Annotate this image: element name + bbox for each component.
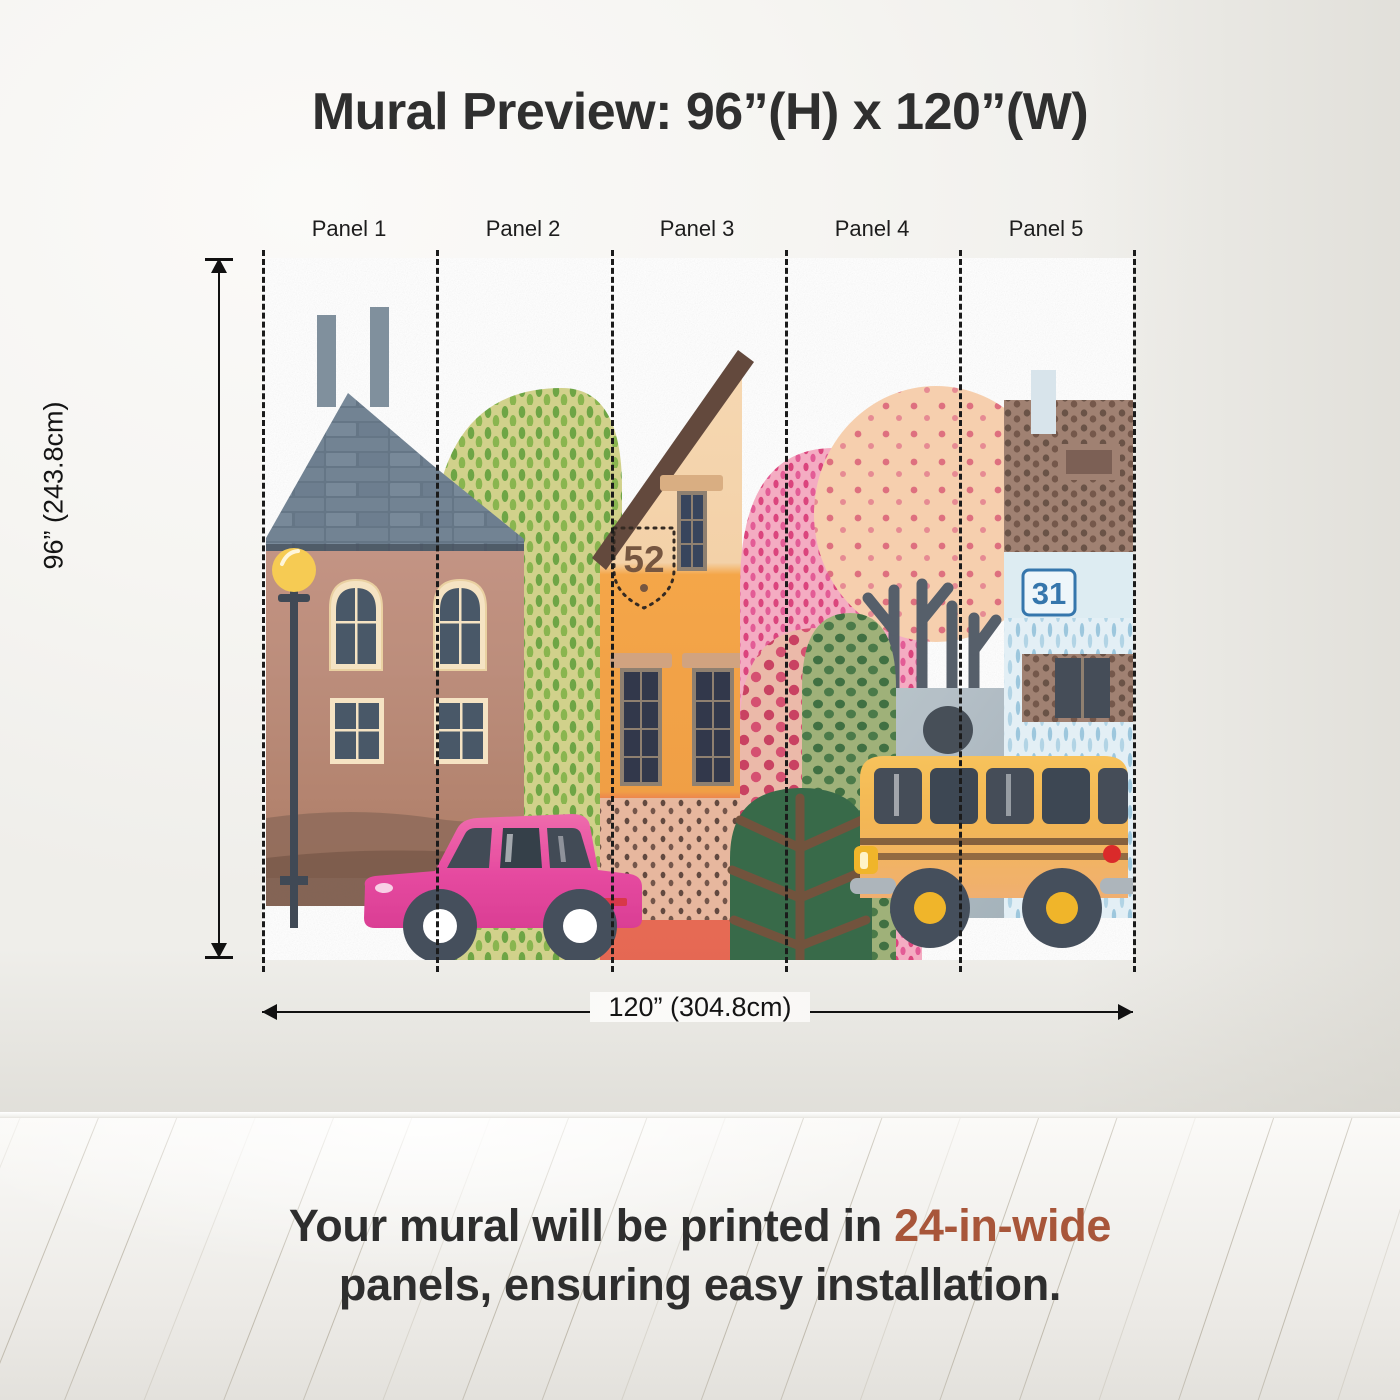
panel-divider-2 <box>611 250 614 972</box>
panel-label-2: Panel 2 <box>436 216 610 242</box>
caption-line-2: panels, ensuring easy installation. <box>0 1255 1400 1314</box>
caption-block: Your mural will be printed in 24-in-wide… <box>0 1196 1400 1315</box>
panel-divider-0 <box>262 250 265 972</box>
height-arrow-up <box>211 258 227 273</box>
panel-label-5: Panel 5 <box>959 216 1133 242</box>
panel-divider-5 <box>1133 250 1136 972</box>
panel-label-row: Panel 1 Panel 2 Panel 3 Panel 4 Panel 5 <box>262 216 1133 250</box>
panel-divider-3 <box>785 250 788 972</box>
panel-label-4: Panel 4 <box>785 216 959 242</box>
width-dimension-label-text: 120” (304.8cm) <box>590 992 809 1022</box>
panel-divider-4 <box>959 250 962 972</box>
caption-line-1-prefix: Your mural will be printed in <box>289 1200 894 1251</box>
height-dimension-label: 96” (243.8cm) <box>39 356 70 616</box>
wall-shadow-bottom <box>0 948 1400 1118</box>
mural-preview-screenshot: Mural Preview: 96”(H) x 120”(W) Panel 1 … <box>0 0 1400 1400</box>
mural-artwork-canvas: 52 <box>262 258 1133 960</box>
caption-accent-text: 24-in-wide <box>894 1200 1111 1251</box>
width-dimension-label: 120” (304.8cm) <box>0 992 1400 1023</box>
caption-line-1: Your mural will be printed in 24-in-wide <box>0 1196 1400 1255</box>
panel-divider-1 <box>436 250 439 972</box>
page-title: Mural Preview: 96”(H) x 120”(W) <box>0 82 1400 142</box>
height-arrow-down <box>211 943 227 958</box>
mural-illustration: 52 <box>262 258 1133 960</box>
panel-label-3: Panel 3 <box>610 216 784 242</box>
panel-label-1: Panel 1 <box>262 216 436 242</box>
height-dimension-line <box>218 258 220 958</box>
